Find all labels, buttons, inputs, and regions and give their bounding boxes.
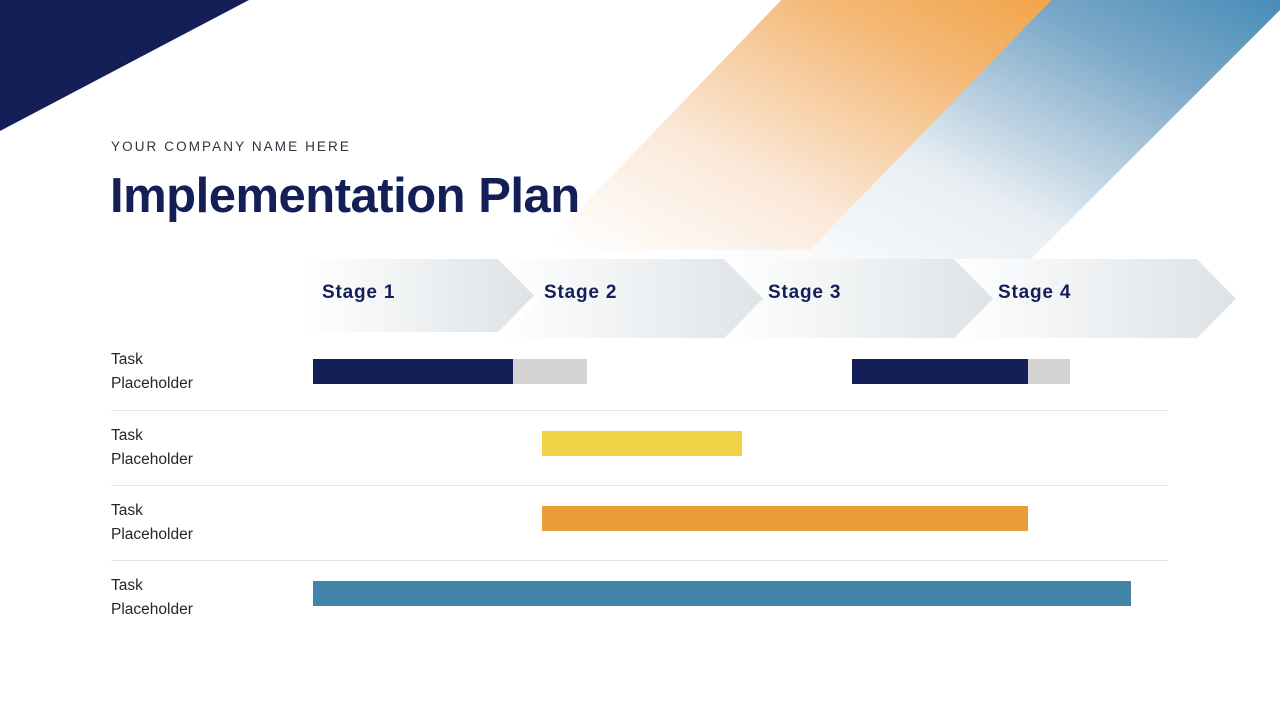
row-divider — [111, 410, 1168, 411]
company-name-eyebrow: YOUR COMPANY NAME HERE — [111, 139, 351, 154]
stage-chevron-label: Stage 4 — [998, 282, 1071, 304]
task-label-line-1: Task — [111, 499, 301, 523]
task-row-label: Task Placeholder — [111, 424, 301, 471]
gantt-bar-progress[interactable] — [542, 506, 1028, 531]
gantt-bar-progress[interactable] — [313, 581, 1131, 606]
stage-header-row: Stage 1 Stage 2 — [0, 259, 1280, 326]
row-divider — [111, 485, 1168, 486]
task-row-label: Task Placeholder — [111, 499, 301, 546]
task-label-line-2: Placeholder — [111, 448, 301, 472]
gantt-bar-remainder[interactable] — [513, 359, 587, 384]
slide-canvas: YOUR COMPANY NAME HERE Implementation Pl… — [0, 0, 1280, 720]
task-row-label: Task Placeholder — [111, 574, 301, 621]
gantt-bar-progress[interactable] — [542, 431, 742, 456]
stage-chevron-label: Stage 1 — [322, 282, 395, 304]
stage-chevron-4[interactable]: Stage 4 — [954, 259, 1236, 326]
chevron-shape — [954, 259, 1236, 338]
gantt-bar-progress[interactable] — [852, 359, 1028, 384]
task-label-line-2: Placeholder — [111, 598, 301, 622]
task-label-line-2: Placeholder — [111, 523, 301, 547]
gantt-bar-progress[interactable] — [313, 359, 513, 384]
gantt-bar-remainder[interactable] — [1028, 359, 1070, 384]
page-title: Implementation Plan — [110, 168, 580, 224]
stage-chevron-label: Stage 2 — [544, 282, 617, 304]
row-divider — [111, 560, 1168, 561]
task-row-label: Task Placeholder — [111, 348, 301, 395]
task-label-line-1: Task — [111, 574, 301, 598]
task-label-line-2: Placeholder — [111, 372, 301, 396]
navy-corner-triangle — [0, 0, 249, 131]
blue-diagonal-band — [680, 0, 1280, 290]
task-label-line-1: Task — [111, 424, 301, 448]
task-label-line-1: Task — [111, 348, 301, 372]
orange-diagonal-band — [540, 0, 1090, 250]
stage-chevron-label: Stage 3 — [768, 282, 841, 304]
